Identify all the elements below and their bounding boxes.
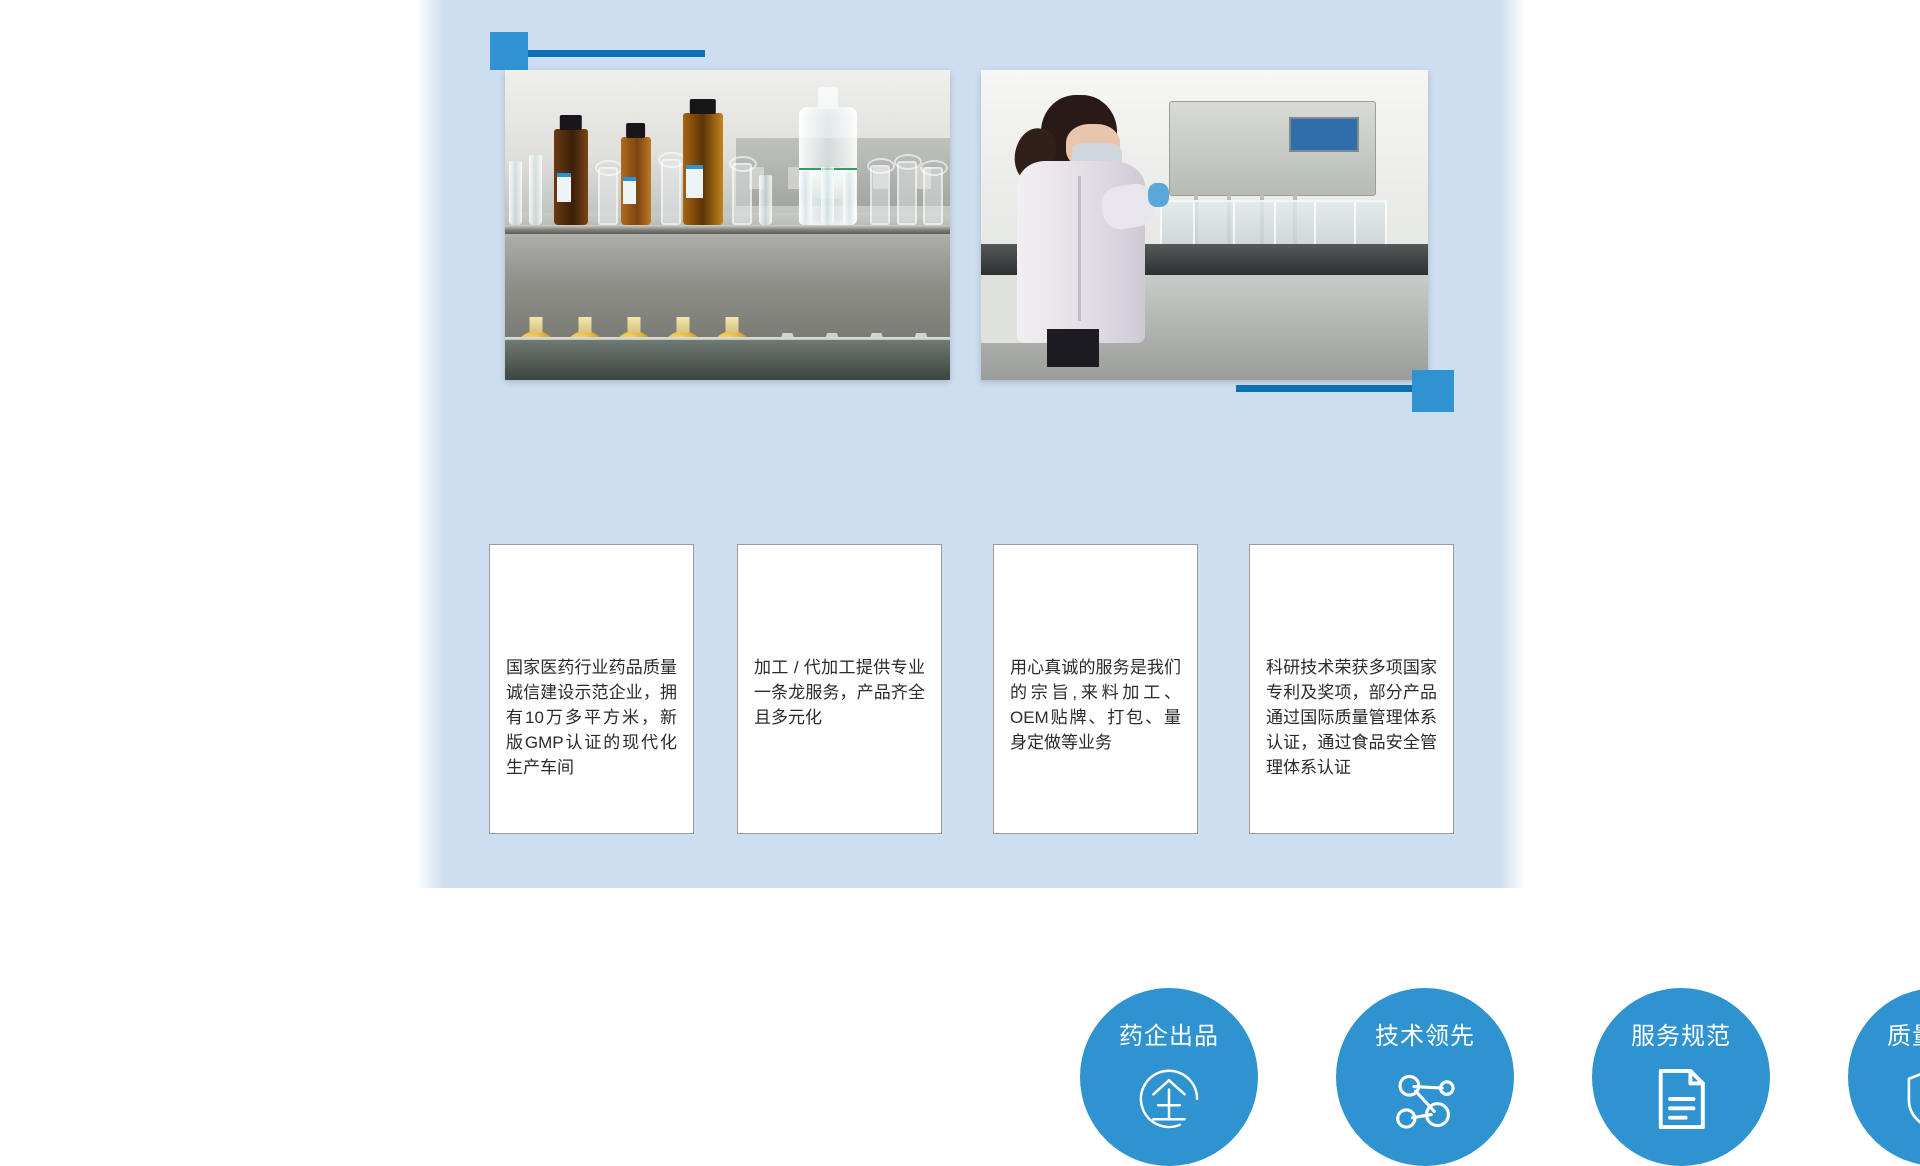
photo-gallery: [505, 70, 1445, 380]
feature-title: 质量保障: [1848, 1016, 1920, 1051]
document-lines-icon: [1642, 1060, 1720, 1138]
feature-card-service[interactable]: 用心真诚的服务是我们的宗旨,来料加工、OEM贴牌、打包、量身定做等业务: [993, 544, 1198, 834]
feature-card-text: 国家医药行业药品质量诚信建设示范企业，拥有10万多平方米，新版GMP认证的现代化…: [490, 655, 693, 780]
feature-title: 服务规范: [1592, 1016, 1770, 1051]
feature-title: 技术领先: [1336, 1016, 1514, 1051]
decorative-line-top-left: [528, 50, 705, 57]
feature-card-text: 用心真诚的服务是我们的宗旨,来料加工、OEM贴牌、打包、量身定做等业务: [994, 655, 1197, 755]
feature-title: 药企出品: [1080, 1016, 1258, 1051]
lab-technician-photo: [981, 70, 1428, 380]
enterprise-seal-icon: [1130, 1060, 1208, 1138]
feature-badge-pharma-origin[interactable]: 药企出品: [1080, 988, 1258, 1166]
feature-badge-technology[interactable]: 技术领先: [1336, 988, 1514, 1166]
feature-card-pharma-origin[interactable]: 国家医药行业药品质量诚信建设示范企业，拥有10万多平方米，新版GMP认证的现代化…: [489, 544, 694, 834]
feature-card-quality[interactable]: 科研技术荣获多项国家专利及奖项，部分产品通过国际质量管理体系认证，通过食品安全管…: [1249, 544, 1454, 834]
feature-card-technology[interactable]: 加工 / 代加工提供专业一条龙服务，产品齐全且多元化: [737, 544, 942, 834]
page-root: 国家医药行业药品质量诚信建设示范企业，拥有10万多平方米，新版GMP认证的现代化…: [0, 0, 1920, 888]
decorative-square-top-left: [490, 32, 528, 70]
feature-card-text: 科研技术荣获多项国家专利及奖项，部分产品通过国际质量管理体系认证，通过食品安全管…: [1250, 655, 1453, 780]
shield-guarantee-icon: [1898, 1060, 1920, 1138]
feature-badge-service[interactable]: 服务规范: [1592, 988, 1770, 1166]
decorative-square-bottom-right: [1412, 370, 1454, 412]
feature-card-text: 加工 / 代加工提供专业一条龙服务，产品齐全且多元化: [738, 655, 941, 730]
lab-bottles-photo: [505, 70, 950, 380]
feature-badge-quality[interactable]: 质量保障: [1848, 988, 1920, 1166]
molecule-network-icon: [1386, 1060, 1464, 1138]
feature-card-list: 国家医药行业药品质量诚信建设示范企业，拥有10万多平方米，新版GMP认证的现代化…: [489, 544, 1454, 834]
